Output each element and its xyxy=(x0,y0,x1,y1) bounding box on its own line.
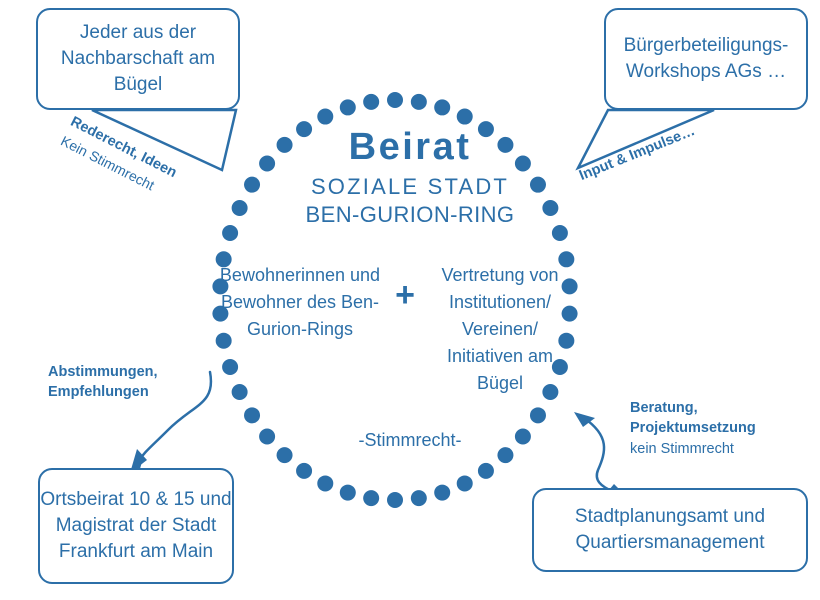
label-beratung-bold: Beratung, Projektumsetzung xyxy=(630,400,756,436)
member-group-institutions: Vertretung von Institutionen/ Vereinen/ … xyxy=(424,262,576,397)
label-beratung-kein-stimmrecht: kein Stimmrecht xyxy=(630,439,810,459)
voting-rights-note: -Stimmrecht- xyxy=(320,430,500,451)
bubble-top-left[interactable]: Jeder aus der Nachbarschaft am Bügel xyxy=(36,8,240,110)
page-title: Beirat xyxy=(270,126,550,169)
bubble-top-right-text: Bürgerbeteiligungs- Workshops AGs … xyxy=(606,33,806,85)
box-bottom-right-text: Stadtplanungsamt und Quartiersmanagement xyxy=(534,504,806,556)
subtitle-soziale-stadt: SOZIALE STADT xyxy=(270,174,550,200)
box-bottom-left-text: Ortsbeirat 10 & 15 und Magistrat der Sta… xyxy=(40,487,232,566)
plus-icon: + xyxy=(386,278,424,312)
bubble-top-left-text: Jeder aus der Nachbarschaft am Bügel xyxy=(38,20,238,99)
diagram-canvas: Jeder aus der Nachbarschaft am Bügel Bür… xyxy=(0,0,820,600)
bubble-top-right[interactable]: Bürgerbeteiligungs- Workshops AGs … xyxy=(604,8,808,110)
label-abstimmungen-bold: Abstimmungen, Empfehlungen xyxy=(48,364,158,400)
box-ortsbeirat-magistrat[interactable]: Ortsbeirat 10 & 15 und Magistrat der Sta… xyxy=(38,468,234,584)
member-group-residents: Bewohnerinnen und Bewohner des Ben-Gurio… xyxy=(214,262,386,343)
arrow-beratung xyxy=(584,418,614,492)
label-abstimmungen-empfehlungen: Abstimmungen, Empfehlungen xyxy=(48,362,228,403)
label-beratung-projektumsetzung: Beratung, Projektumsetzung kein Stimmrec… xyxy=(630,398,810,459)
box-stadtplanungsamt-quartiersmanagement[interactable]: Stadtplanungsamt und Quartiersmanagement xyxy=(532,488,808,572)
subtitle-ben-gurion-ring: BEN-GURION-RING xyxy=(270,202,550,228)
